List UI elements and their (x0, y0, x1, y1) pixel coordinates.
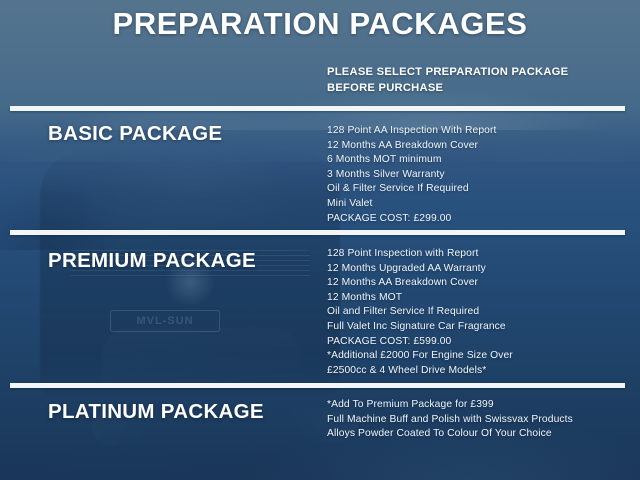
package-feature-item: 128 Point AA Inspection With Report (327, 124, 497, 139)
package-cost-platinum: *Add To Premium Package for £399 (327, 398, 573, 413)
package-note-premium-line-1: *Additional £2000 For Engine Size Over (327, 349, 513, 364)
package-feature-item: Full Machine Buff and Polish with Swissv… (327, 413, 573, 428)
package-cost-basic: PACKAGE COST: £299.00 (327, 212, 497, 227)
package-note-premium-line-2: £2500cc & 4 Wheel Drive Models* (327, 364, 513, 379)
package-title-platinum[interactable]: PLATINUM PACKAGE (48, 400, 264, 424)
divider-above-premium (10, 230, 625, 235)
package-title-basic[interactable]: BASIC PACKAGE (48, 122, 222, 146)
package-feature-item: 12 Months AA Breakdown Cover (327, 276, 513, 291)
package-feature-item: Oil & Filter Service If Required (327, 182, 497, 197)
package-feature-item: 12 Months Upgraded AA Warranty (327, 262, 513, 277)
selection-instruction-line-1: PLEASE SELECT PREPARATION PACKAGE (327, 64, 617, 80)
selection-instruction: PLEASE SELECT PREPARATION PACKAGE BEFORE… (327, 64, 617, 96)
package-feature-item: Alloys Powder Coated To Colour Of Your C… (327, 427, 573, 442)
package-feature-item: Full Valet Inc Signature Car Fragrance (327, 320, 513, 335)
package-feature-item: 128 Point Inspection with Report (327, 247, 513, 262)
preparation-packages-poster: MVL-SUN PREPARATION PACKAGES PLEASE SELE… (0, 0, 640, 480)
divider-above-platinum (10, 383, 625, 388)
package-cost-premium: PACKAGE COST: £599.00 (327, 335, 513, 350)
page-title: PREPARATION PACKAGES (0, 6, 640, 42)
divider-above-basic (10, 106, 625, 111)
package-features-platinum: *Add To Premium Package for £399 Full Ma… (327, 398, 573, 442)
package-feature-item: 6 Months MOT minimum (327, 153, 497, 168)
package-features-premium: 128 Point Inspection with Report 12 Mont… (327, 247, 513, 378)
package-feature-item: 3 Months Silver Warranty (327, 168, 497, 183)
package-features-basic: 128 Point AA Inspection With Report 12 M… (327, 124, 497, 226)
package-feature-item: Oil and Filter Service If Required (327, 305, 513, 320)
package-title-premium[interactable]: PREMIUM PACKAGE (48, 249, 256, 273)
selection-instruction-line-2: BEFORE PURCHASE (327, 80, 617, 96)
package-feature-item: 12 Months AA Breakdown Cover (327, 139, 497, 154)
package-feature-item: Mini Valet (327, 197, 497, 212)
package-feature-item: 12 Months MOT (327, 291, 513, 306)
